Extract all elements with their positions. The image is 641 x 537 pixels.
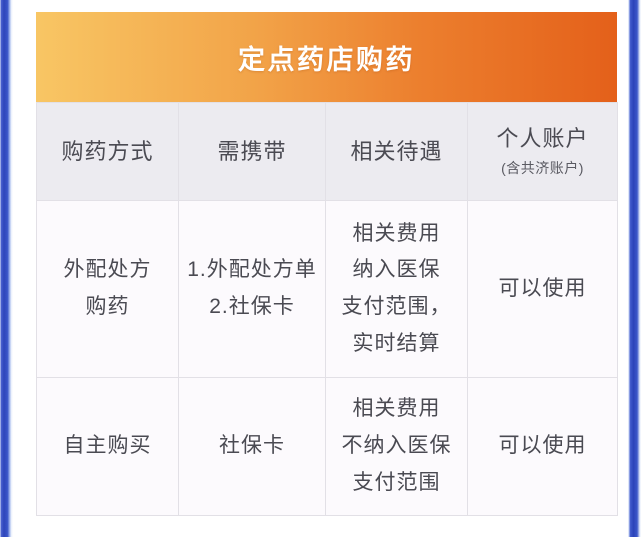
cell-method-1-lines: 自主购买 [37, 428, 178, 465]
cell-line: 不纳入医保 [326, 428, 467, 465]
pharmacy-purchase-table: 购药方式 需携带 相关待遇 个人账户 (含共济账户) 外配处方 [36, 102, 618, 516]
table-row: 自主购买 社保卡 相关费用 不纳入医保 支付范围 [37, 378, 618, 516]
cell-treatment-1-lines: 相关费用 不纳入医保 支付范围 [326, 391, 467, 501]
cell-treatment-0-lines: 相关费用 纳入医保 支付范围， 实时结算 [326, 216, 467, 363]
cell-line: 实时结算 [326, 326, 467, 363]
left-accent-bar [0, 0, 13, 537]
column-header-account-label: 个人账户 [468, 125, 617, 153]
column-header-treatment: 相关待遇 [326, 103, 468, 201]
cell-account-0: 可以使用 [468, 201, 618, 378]
cell-line: 支付范围， [326, 289, 467, 326]
info-card: 定点药店购药 购药方式 需携带 相关待遇 个人账户 (含共济账户) [36, 12, 617, 516]
cell-line: 社保卡 [179, 428, 325, 465]
column-header-method-label: 购药方式 [37, 138, 178, 166]
cell-line: 可以使用 [468, 428, 617, 465]
cell-treatment-0: 相关费用 纳入医保 支付范围， 实时结算 [326, 201, 468, 378]
column-header-bring: 需携带 [179, 103, 326, 201]
cell-treatment-1: 相关费用 不纳入医保 支付范围 [326, 378, 468, 516]
cell-account-0-lines: 可以使用 [468, 271, 617, 308]
cell-line: 纳入医保 [326, 252, 467, 289]
table-row: 外配处方 购药 1.外配处方单 2.社保卡 相关费用 纳入医保 支付范围， [37, 201, 618, 378]
right-accent-bar [628, 0, 641, 537]
cell-bring-0-lines: 1.外配处方单 2.社保卡 [179, 252, 325, 326]
column-header-treatment-label: 相关待遇 [326, 138, 467, 166]
column-header-account-sublabel: (含共济账户) [468, 158, 617, 178]
cell-line: 相关费用 [326, 391, 467, 428]
cell-method-1: 自主购买 [37, 378, 179, 516]
cell-method-0-lines: 外配处方 购药 [37, 252, 178, 326]
cell-line: 相关费用 [326, 216, 467, 253]
column-header-account: 个人账户 (含共济账户) [468, 103, 618, 201]
cell-bring-0: 1.外配处方单 2.社保卡 [179, 201, 326, 378]
cell-line: 2.社保卡 [179, 289, 325, 326]
cell-account-1: 可以使用 [468, 378, 618, 516]
cell-line: 1.外配处方单 [179, 252, 325, 289]
cell-account-1-lines: 可以使用 [468, 428, 617, 465]
cell-line: 自主购买 [37, 428, 178, 465]
column-header-bring-label: 需携带 [179, 138, 325, 166]
cell-line: 购药 [37, 289, 178, 326]
banner-title: 定点药店购药 [238, 38, 415, 77]
cell-line: 支付范围 [326, 465, 467, 502]
column-header-method: 购药方式 [37, 103, 179, 201]
cell-line: 外配处方 [37, 252, 178, 289]
cell-bring-1: 社保卡 [179, 378, 326, 516]
cell-line: 可以使用 [468, 271, 617, 308]
table-header-row: 购药方式 需携带 相关待遇 个人账户 (含共济账户) [37, 103, 618, 201]
cell-bring-1-lines: 社保卡 [179, 428, 325, 465]
cell-method-0: 外配处方 购药 [37, 201, 179, 378]
banner-header: 定点药店购药 [36, 12, 617, 102]
